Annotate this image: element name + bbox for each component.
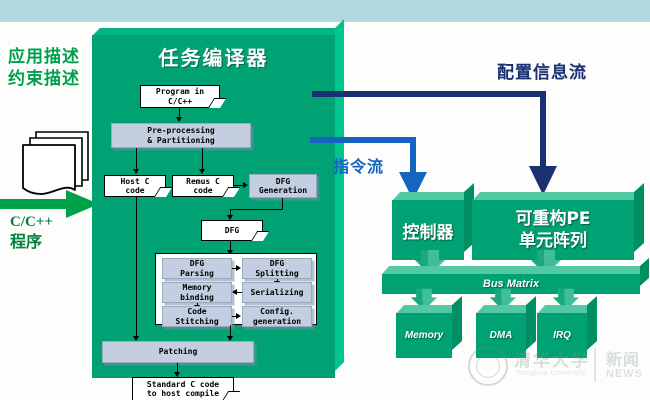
compiler-title: 任务编译器 [92,42,335,71]
application-description-label: 应用描述 约束描述 [8,46,80,90]
node-host-c-code: Host C code [104,175,166,197]
pe-array-line-2: 单元阵列 [519,230,587,252]
node-dfg-parsing: DFG Parsing [162,258,232,279]
node-patching: Patching [102,341,254,363]
block-pe-array: 可重构PE 单元阵列 [472,192,650,260]
block-memory: Memory [396,305,462,359]
node-code-stitching: Code Stitching [162,306,232,327]
arrowhead-parsing-to-splitting [236,265,241,271]
conn-pre-to-hostc [136,148,137,170]
arrowhead-pre-to-hostc [133,169,139,174]
cpp-program-label: C/C++ 程序 [10,212,53,252]
cpp-label-line-2: 程序 [10,232,53,252]
tsinghua-seal-icon [468,346,508,386]
node-preprocessing-partitioning: Pre-processing & Partitioning [111,123,251,148]
node-dfg-splitting: DFG Splitting [242,258,312,279]
arrowhead-pre-to-remusc [199,169,205,174]
pe-array-line-1: 可重构PE [515,208,590,230]
conn-pre-to-remusc [202,148,203,170]
node-serializing: Serializing [242,282,312,303]
watermark-news-en: NEWS [606,368,643,380]
top-band [0,0,650,22]
watermark: 清华大学 Tsinghua University 新闻 NEWS [468,344,643,392]
conn-serial-to-membind [237,292,242,293]
watermark-university-cn: 清华大学 [514,346,590,371]
arrowhead-remusc-to-dfggen [243,182,248,188]
block-memory-label: Memory [396,313,452,358]
instruction-flow-label: 指令流 [333,153,384,177]
conn-dfggen-bridge [230,209,283,210]
node-dfg: DFG [201,220,263,241]
arrowhead-stitch-to-config [236,313,241,319]
arrowhead-program-to-pre [176,117,182,122]
app-desc-line-1: 应用描述 [8,46,80,68]
node-standard-c-code: Standard C code to host compile [132,377,234,400]
cpp-label-line-1: C/C++ [10,212,53,232]
conn-hostc-to-patching [136,197,137,337]
watermark-university-en: Tsinghua University [516,370,586,377]
node-config-generation: Config. generation [242,306,312,327]
node-remus-c-code: Remus C code [172,175,234,197]
watermark-news-cn: 新闻 [606,346,640,370]
config-flow-label: 配置信息流 [497,58,587,83]
node-program-in-cpp: Program in C/C++ [140,85,220,108]
node-memory-binding: Memory binding [162,282,232,303]
app-desc-line-2: 约束描述 [8,68,80,90]
arrowhead-serial-to-membind [232,289,237,295]
watermark-divider [594,348,596,382]
diagram-canvas: 应用描述 约束描述 C/C++ 程序 任务编译器 Program in C/C+… [0,0,650,400]
